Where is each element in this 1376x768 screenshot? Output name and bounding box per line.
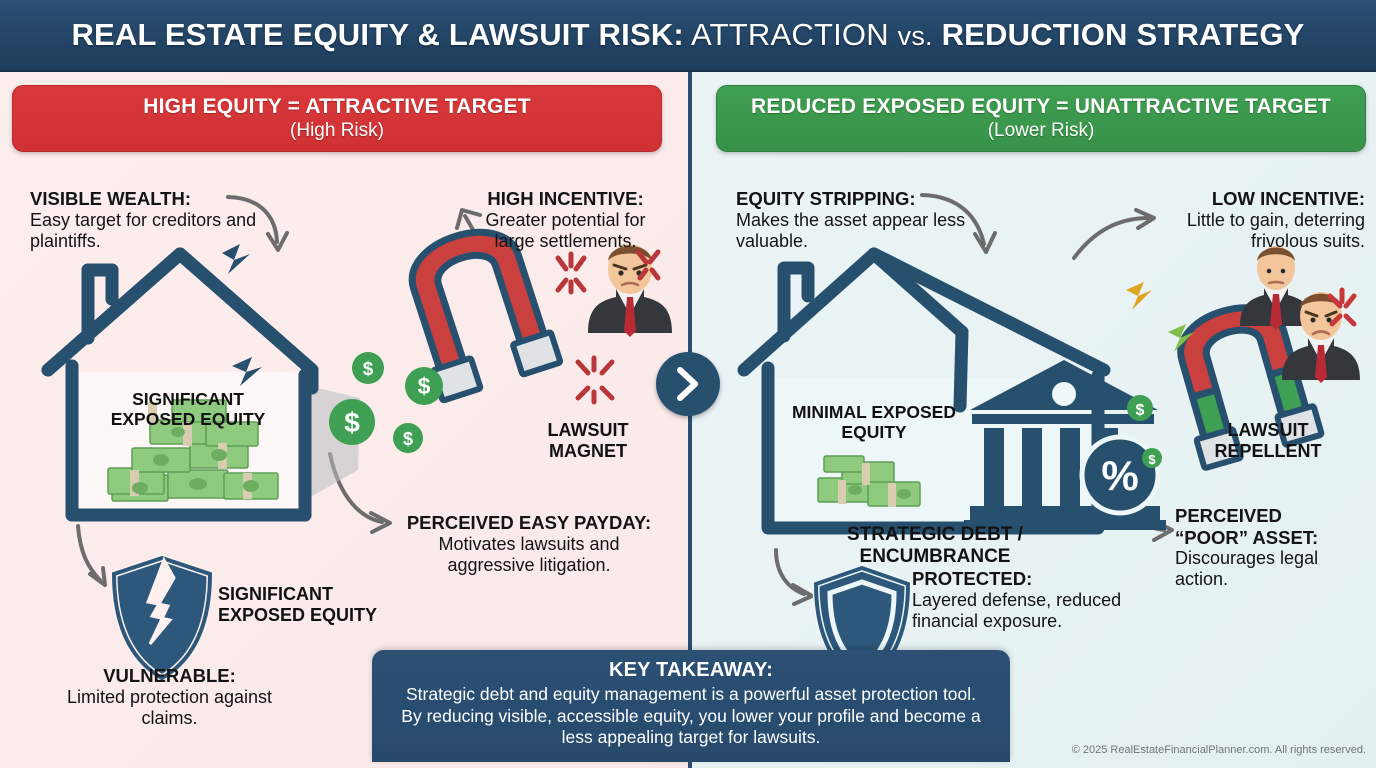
percent-symbol: % [1101,452,1138,499]
key-takeaway-body: Strategic debt and equity management is … [394,684,988,749]
anno-perceived-payday-body: Motivates lawsuits and aggressive litiga… [395,534,663,576]
anno-equity-stripping: EQUITY STRIPPING: Makes the asset appear… [736,188,976,252]
anno-equity-stripping-heading: EQUITY STRIPPING: [736,188,976,210]
anno-vulnerable-heading: VULNERABLE: [62,665,277,687]
anno-perceived-poor-asset: PERCEIVED “POOR” ASSET: Discourages lega… [1175,505,1365,590]
key-takeaway-heading: KEY TAKEAWAY: [394,659,988,682]
page-title: REAL ESTATE EQUITY & LAWSUIT RISK: ATTRA… [71,17,1304,53]
copyright-notice: © 2025 RealEstateFinancialPlanner.com. A… [1072,744,1366,756]
left-banner-line2: (High Risk) [290,120,384,142]
percent-badge-icon: % [1082,437,1158,513]
lawsuit-magnet-label-line1: LAWSUIT [540,420,636,441]
anno-high-incentive-heading: HIGH INCENTIVE: [468,188,663,210]
svg-text:$: $ [403,429,413,449]
page-title-part2: ATTRACTION [691,17,889,52]
anno-perceived-payday-heading: PERCEIVED EASY PAYDAY: [395,512,663,534]
anno-protected-body: Layered defense, reduced financial expos… [912,590,1144,632]
left-house-label-line1: SIGNIFICANT [132,389,244,409]
anno-high-incentive-body: Greater potential for large settlements. [468,210,663,252]
svg-text:$: $ [1148,452,1156,467]
anno-visible-wealth: VISIBLE WEALTH: Easy target for creditor… [30,188,260,252]
anno-high-incentive: HIGH INCENTIVE: Greater potential for la… [468,188,663,252]
infographic-root: REAL ESTATE EQUITY & LAWSUIT RISK: ATTRA… [0,0,1376,768]
page-title-part4: REDUCTION STRATEGY [942,17,1305,52]
right-banner-line1: REDUCED EXPOSED EQUITY = UNATTRACTIVE TA… [751,95,1331,119]
broken-shield-label-line2: EXPOSED EQUITY [218,605,414,626]
svg-text:$: $ [363,359,374,380]
title-bar: REAL ESTATE EQUITY & LAWSUIT RISK: ATTRA… [0,0,1376,72]
right-house-label-line1: MINIMAL EXPOSED [792,402,956,422]
anno-protected: PROTECTED: Layered defense, reduced fina… [912,568,1144,632]
anno-vulnerable-body: Limited protection against claims. [62,687,277,729]
anno-equity-stripping-body: Makes the asset appear less valuable. [736,210,976,252]
lawsuit-magnet-label: LAWSUIT MAGNET [540,420,636,461]
key-takeaway-box: KEY TAKEAWAY: Strategic debt and equity … [372,650,1010,762]
plaintiff-avatar-icon [588,244,672,337]
svg-text:$: $ [344,407,360,438]
right-banner-line2: (Lower Risk) [988,120,1095,142]
anno-visible-wealth-body: Easy target for creditors and plaintiffs… [30,210,260,252]
anno-vulnerable: VULNERABLE: Limited protection against c… [62,665,277,729]
strategic-debt-label: STRATEGIC DEBT / ENCUMBRANCE [770,524,1100,567]
anno-perceived-payday: PERCEIVED EASY PAYDAY: Motivates lawsuit… [395,512,663,576]
lawsuit-repellent-label-line1: LAWSUIT [1208,420,1328,441]
left-banner-line1: HIGH EQUITY = ATTRACTIVE TARGET [143,95,531,119]
repel-spark-icons [1126,282,1194,352]
anno-perceived-poor-heading-line1: PERCEIVED [1175,505,1365,527]
anno-protected-heading: PROTECTED: [912,568,1144,590]
lawsuit-magnet-label-line2: MAGNET [540,441,636,462]
anno-perceived-poor-body: Discourages legal action. [1175,548,1365,590]
svg-text:$: $ [418,373,431,399]
center-transition-button[interactable] [656,352,720,416]
broken-shield-icon [114,558,210,678]
lawsuit-repellent-label-line2: REPELLENT [1208,441,1328,462]
anno-perceived-poor-heading-line2: “POOR” ASSET: [1175,527,1365,549]
anno-low-incentive: LOW INCENTIVE: Little to gain, deterring… [1120,188,1365,252]
page-title-part1: REAL ESTATE EQUITY & LAWSUIT RISK: [71,17,683,52]
arrow-house-to-shield [78,526,105,585]
right-banner: REDUCED EXPOSED EQUITY = UNATTRACTIVE TA… [716,85,1366,152]
right-house-label-line2: EQUITY [841,422,906,442]
left-banner: HIGH EQUITY = ATTRACTIVE TARGET (High Ri… [12,85,662,152]
strategic-debt-label-text: STRATEGIC DEBT / ENCUMBRANCE [770,524,1100,567]
left-house-label-line2: EXPOSED EQUITY [111,409,266,429]
broken-shield-label-line1: SIGNIFICANT [218,584,414,605]
lawsuit-repellent-label: LAWSUIT REPELLENT [1208,420,1328,461]
anno-visible-wealth-heading: VISIBLE WEALTH: [30,188,260,210]
anno-low-incentive-heading: LOW INCENTIVE: [1120,188,1365,210]
chevron-right-icon [675,367,701,401]
anno-low-incentive-body: Little to gain, deterring frivolous suit… [1120,210,1365,252]
page-title-part3: vs. [898,21,933,51]
dollar-coins-left: $ $ $ $ [329,352,443,453]
svg-text:$: $ [1136,402,1145,419]
broken-shield-label: SIGNIFICANT EXPOSED EQUITY [218,584,414,625]
